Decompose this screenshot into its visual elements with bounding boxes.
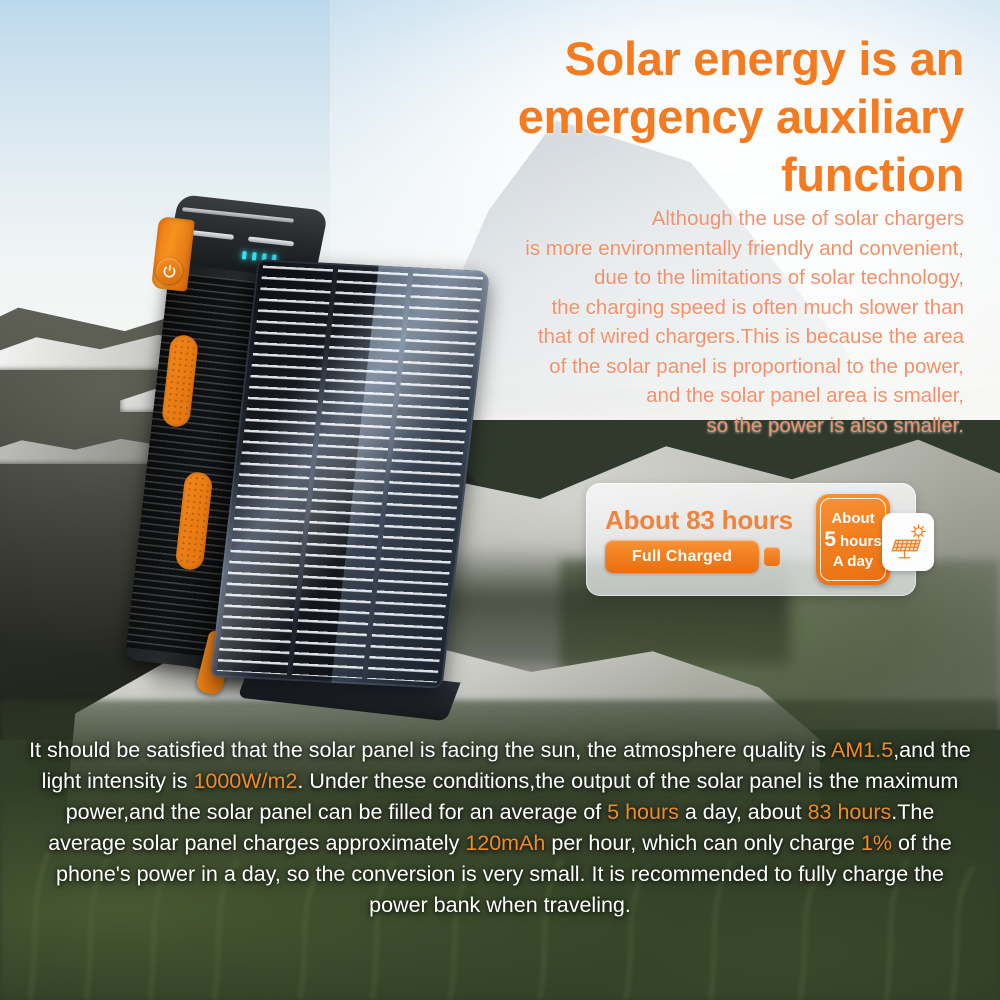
charge-time-card: About 83 hours Full Charged About 5 hour… — [586, 483, 916, 596]
solar-panel-icon-tile — [882, 513, 934, 571]
highlighted-value: 5 hours — [607, 800, 679, 824]
badge-line-aday: A day — [833, 553, 873, 570]
full-charged-label: Full Charged — [632, 548, 732, 566]
paragraph-line: Although the use of solar chargers — [394, 204, 964, 234]
paragraph-line: so the power is also smaller. — [394, 411, 964, 441]
highlighted-value: 1% — [861, 831, 892, 855]
headline-line-2: emergency auxiliary function — [344, 88, 964, 204]
details-paragraph: It should be satisfied that the solar pa… — [26, 735, 974, 921]
body-text: per hour, which can only charge — [545, 831, 861, 855]
paragraph-line: and the solar panel area is smaller, — [394, 381, 964, 411]
badge-inner-frame: About 5 hours A day — [820, 498, 886, 581]
paragraph-line: of the solar panel is proportional to th… — [394, 352, 964, 382]
badge-line-about: About — [831, 510, 874, 527]
highlighted-value: 120mAh — [465, 831, 545, 855]
led-indicator — [252, 252, 257, 260]
power-symbol-icon — [161, 263, 178, 280]
paragraph-line: due to the limitations of solar technolo… — [394, 263, 964, 293]
page-title: Solar energy is an emergency auxiliary f… — [344, 30, 964, 204]
highlighted-value: 83 hours — [808, 800, 892, 824]
body-text: It should be satisfied that the solar pa… — [29, 738, 831, 762]
badge-hours-unit: hours — [840, 533, 882, 550]
paragraph-line: the charging speed is often much slower … — [394, 293, 964, 323]
body-text: a day, about — [679, 800, 808, 824]
full-charged-battery-bar: Full Charged — [605, 540, 759, 573]
headline-line-1: Solar energy is an — [344, 30, 964, 88]
highlighted-value: 1000W/m2 — [193, 769, 297, 793]
battery-terminal-nub — [764, 547, 780, 566]
intro-paragraph: Although the use of solar chargers is mo… — [394, 204, 964, 440]
paragraph-line: that of wired chargers.This is because t… — [394, 322, 964, 352]
hours-per-day-badge: About 5 hours A day — [816, 494, 890, 585]
badge-hours-value: 5 — [824, 528, 836, 552]
highlighted-value: AM1.5 — [831, 738, 893, 762]
marketing-banner: Solar energy is an emergency auxiliary f… — [0, 0, 1000, 1000]
paragraph-line: is more environmentally friendly and con… — [394, 234, 964, 264]
led-indicator — [242, 251, 247, 259]
solar-panel-sun-icon — [887, 521, 929, 563]
badge-line-hours: 5 hours — [824, 528, 881, 552]
card-title: About 83 hours — [605, 505, 793, 536]
